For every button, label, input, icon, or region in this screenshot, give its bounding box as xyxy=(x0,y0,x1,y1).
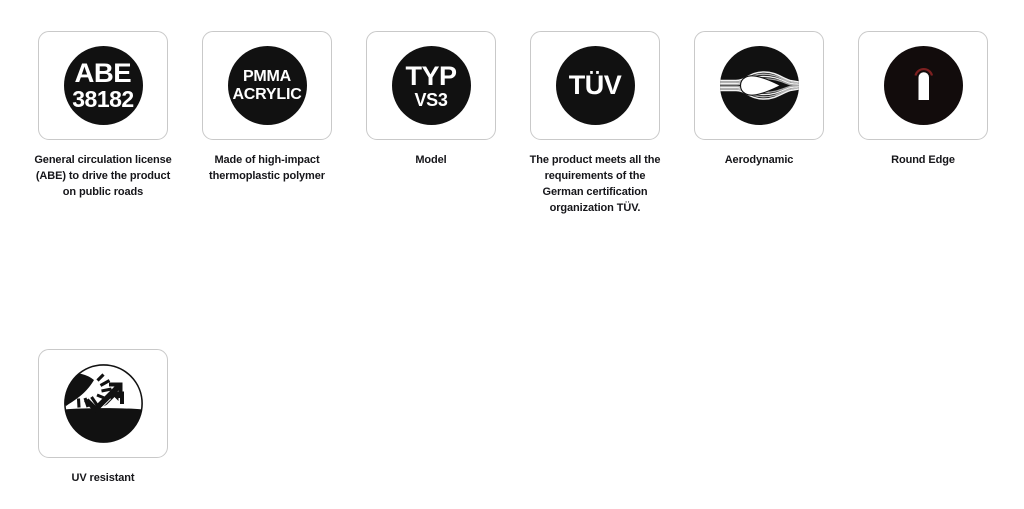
feature-label-model: Model xyxy=(359,153,503,169)
badge-card-aerodynamic xyxy=(694,31,824,140)
abe-badge-line2: 38182 xyxy=(72,88,133,111)
feature-item-tuv: TÜV The product meets all the requiremen… xyxy=(530,31,660,217)
badge-card-tuv: TÜV xyxy=(530,31,660,140)
model-type-badge-icon: TYP VS3 xyxy=(392,46,471,125)
feature-item-model: TYP VS3 Model xyxy=(366,31,496,217)
feature-label-uv-resistant: UV resistant xyxy=(31,471,175,487)
feature-item-pmma: PMMA ACRYLIC Made of high-impact thermop… xyxy=(202,31,332,217)
abe-badge-line1: ABE xyxy=(75,60,132,87)
tuv-badge-line1: TÜV xyxy=(569,72,622,99)
feature-label-round-edge: Round Edge xyxy=(851,153,995,169)
feature-label-aerodynamic: Aerodynamic xyxy=(687,153,831,169)
pmma-acrylic-material-badge-icon: PMMA ACRYLIC xyxy=(228,46,307,125)
pmma-badge-line2: ACRYLIC xyxy=(232,87,301,103)
feature-item-round-edge: Round Edge xyxy=(858,31,988,217)
feature-label-pmma: Made of high-impact thermoplastic polyme… xyxy=(195,153,339,185)
feature-label-abe: General circulation license (ABE) to dri… xyxy=(31,153,175,201)
abe-certification-badge-icon: ABE 38182 xyxy=(64,46,143,125)
typ-badge-line1: TYP xyxy=(405,63,456,90)
badge-card-pmma: PMMA ACRYLIC xyxy=(202,31,332,140)
feature-item-aerodynamic: Aerodynamic xyxy=(694,31,824,217)
feature-label-tuv: The product meets all the requirements o… xyxy=(523,153,667,217)
aerodynamic-airflow-icon xyxy=(720,46,799,125)
badge-card-abe: ABE 38182 xyxy=(38,31,168,140)
feature-item-abe: ABE 38182 General circulation license (A… xyxy=(38,31,168,217)
typ-badge-line2: VS3 xyxy=(414,91,447,109)
badge-card-model: TYP VS3 xyxy=(366,31,496,140)
uv-resistant-sun-icon xyxy=(64,364,143,443)
badge-card-uv-resistant xyxy=(38,349,168,458)
pmma-badge-line1: PMMA xyxy=(243,69,291,85)
tuv-certification-badge-icon: TÜV xyxy=(556,46,635,125)
feature-item-uv-resistant: UV resistant xyxy=(38,349,168,487)
badge-card-round-edge xyxy=(858,31,988,140)
feature-badge-grid: ABE 38182 General circulation license (A… xyxy=(38,31,1024,509)
round-edge-profile-icon xyxy=(884,46,963,125)
